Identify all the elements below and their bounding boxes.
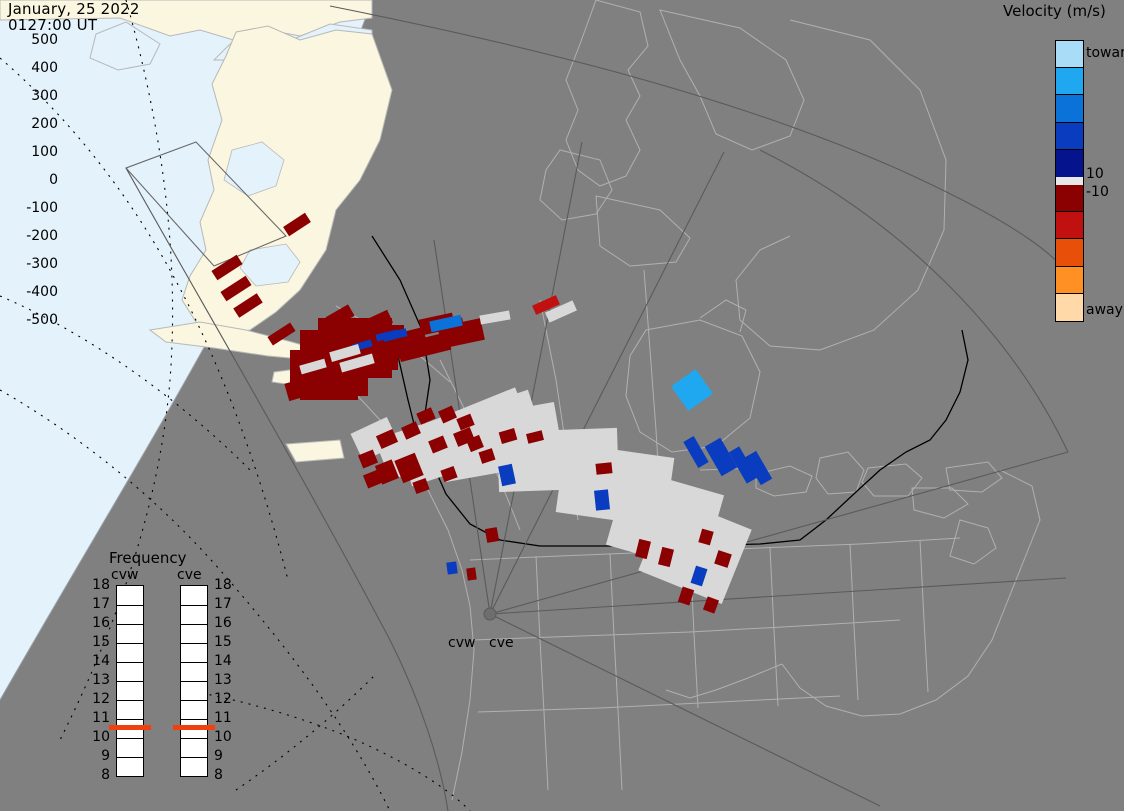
frequency-gridline [117, 719, 143, 720]
frequency-scale-label: 13 [88, 672, 110, 688]
colorbar-band-8 [1056, 239, 1083, 266]
frequency-scale-label: 14 [214, 653, 236, 669]
colorbar-band-6 [1056, 185, 1083, 212]
frequency-gridline [117, 700, 143, 701]
colorbar-tick-neg400: -400 [26, 284, 58, 300]
velocity-cell [594, 489, 610, 510]
date-label: January, 25 2022 [8, 1, 140, 17]
frequency-gridline [117, 643, 143, 644]
frequency-marker-cvw [109, 725, 151, 730]
colorbar-band-10 [1056, 294, 1083, 321]
frequency-scale-label: 17 [214, 596, 236, 612]
frequency-gridline [181, 624, 207, 625]
frequency-scale-label: 18 [88, 577, 110, 593]
time-label: 0127:00 UT [8, 17, 97, 33]
frequency-gridline [181, 643, 207, 644]
map-canvas [0, 0, 1124, 811]
radar-map-view: January, 25 2022 0127:00 UT Velocity (m/… [0, 0, 1124, 811]
velocity-colorbar[interactable] [1055, 40, 1084, 322]
colorbar-tick-400: 400 [31, 60, 58, 76]
colorbar-tick-neg100: -100 [26, 200, 58, 216]
colorbar-band-zero [1056, 177, 1083, 185]
colorbar-band-2 [1056, 95, 1083, 122]
colorbar-tick-500: 500 [31, 32, 58, 48]
colorbar-tick-200: 200 [31, 116, 58, 132]
colorbar-band-4 [1056, 150, 1083, 177]
colorbar-tick-neg200: -200 [26, 228, 58, 244]
site-label-cvw: cvw [448, 635, 475, 651]
frequency-column-header-cvw: cvw [111, 567, 138, 583]
colorbar-tick-100: 100 [31, 144, 58, 160]
frequency-scale-label: 15 [214, 634, 236, 650]
frequency-gridline [181, 681, 207, 682]
colorbar-band-0 [1056, 41, 1083, 68]
colorbar-inner-negative-label: -10 [1086, 184, 1109, 200]
frequency-scale-label: 10 [88, 729, 110, 745]
site-label-cve: cve [489, 635, 514, 651]
colorbar-title: Velocity (m/s) [1003, 2, 1106, 20]
colorbar-tick-neg500: -500 [26, 312, 58, 328]
velocity-cell [595, 462, 612, 475]
frequency-column-header-cve: cve [177, 567, 202, 583]
frequency-gridline [181, 700, 207, 701]
frequency-gridline [181, 738, 207, 739]
frequency-scale-label: 12 [88, 691, 110, 707]
frequency-gridline [117, 757, 143, 758]
colorbar-band-7 [1056, 212, 1083, 239]
frequency-gridline [117, 738, 143, 739]
frequency-gridline [181, 719, 207, 720]
radar-site-marker[interactable] [484, 608, 496, 620]
frequency-scale-label: 9 [88, 748, 110, 764]
frequency-gauge-cvw[interactable] [116, 585, 144, 777]
frequency-scale-label: 16 [214, 615, 236, 631]
frequency-marker-cve [173, 725, 215, 730]
colorbar-tick-0: 0 [49, 172, 58, 188]
frequency-gridline [117, 624, 143, 625]
colorbar-away-label: away [1086, 302, 1123, 318]
frequency-scale-label: 15 [88, 634, 110, 650]
frequency-title: Frequency [109, 549, 187, 567]
frequency-scale-label: 13 [214, 672, 236, 688]
frequency-scale-label: 12 [214, 691, 236, 707]
frequency-scale-label: 18 [214, 577, 236, 593]
frequency-gridline [181, 605, 207, 606]
frequency-gridline [181, 662, 207, 663]
frequency-scale-label: 8 [88, 767, 110, 783]
frequency-gridline [117, 681, 143, 682]
colorbar-band-3 [1056, 123, 1083, 150]
frequency-gridline [181, 757, 207, 758]
velocity-cell [446, 561, 458, 574]
frequency-scale-label: 9 [214, 748, 236, 764]
colorbar-inner-positive-label: 10 [1086, 166, 1104, 182]
frequency-scale-label: 16 [88, 615, 110, 631]
frequency-scale-label: 11 [88, 710, 110, 726]
velocity-cell [466, 567, 477, 580]
frequency-scale-label: 10 [214, 729, 236, 745]
colorbar-band-9 [1056, 267, 1083, 294]
frequency-scale-label: 11 [214, 710, 236, 726]
frequency-gridline [117, 662, 143, 663]
colorbar-tick-300: 300 [31, 88, 58, 104]
colorbar-band-1 [1056, 68, 1083, 95]
colorbar-tick-neg300: -300 [26, 256, 58, 272]
frequency-scale-label: 17 [88, 596, 110, 612]
velocity-cell [485, 527, 499, 543]
frequency-scale-label: 14 [88, 653, 110, 669]
frequency-gridline [117, 605, 143, 606]
frequency-gauge-cve[interactable] [180, 585, 208, 777]
colorbar-toward-label: toward [1086, 45, 1124, 61]
frequency-scale-label: 8 [214, 767, 236, 783]
